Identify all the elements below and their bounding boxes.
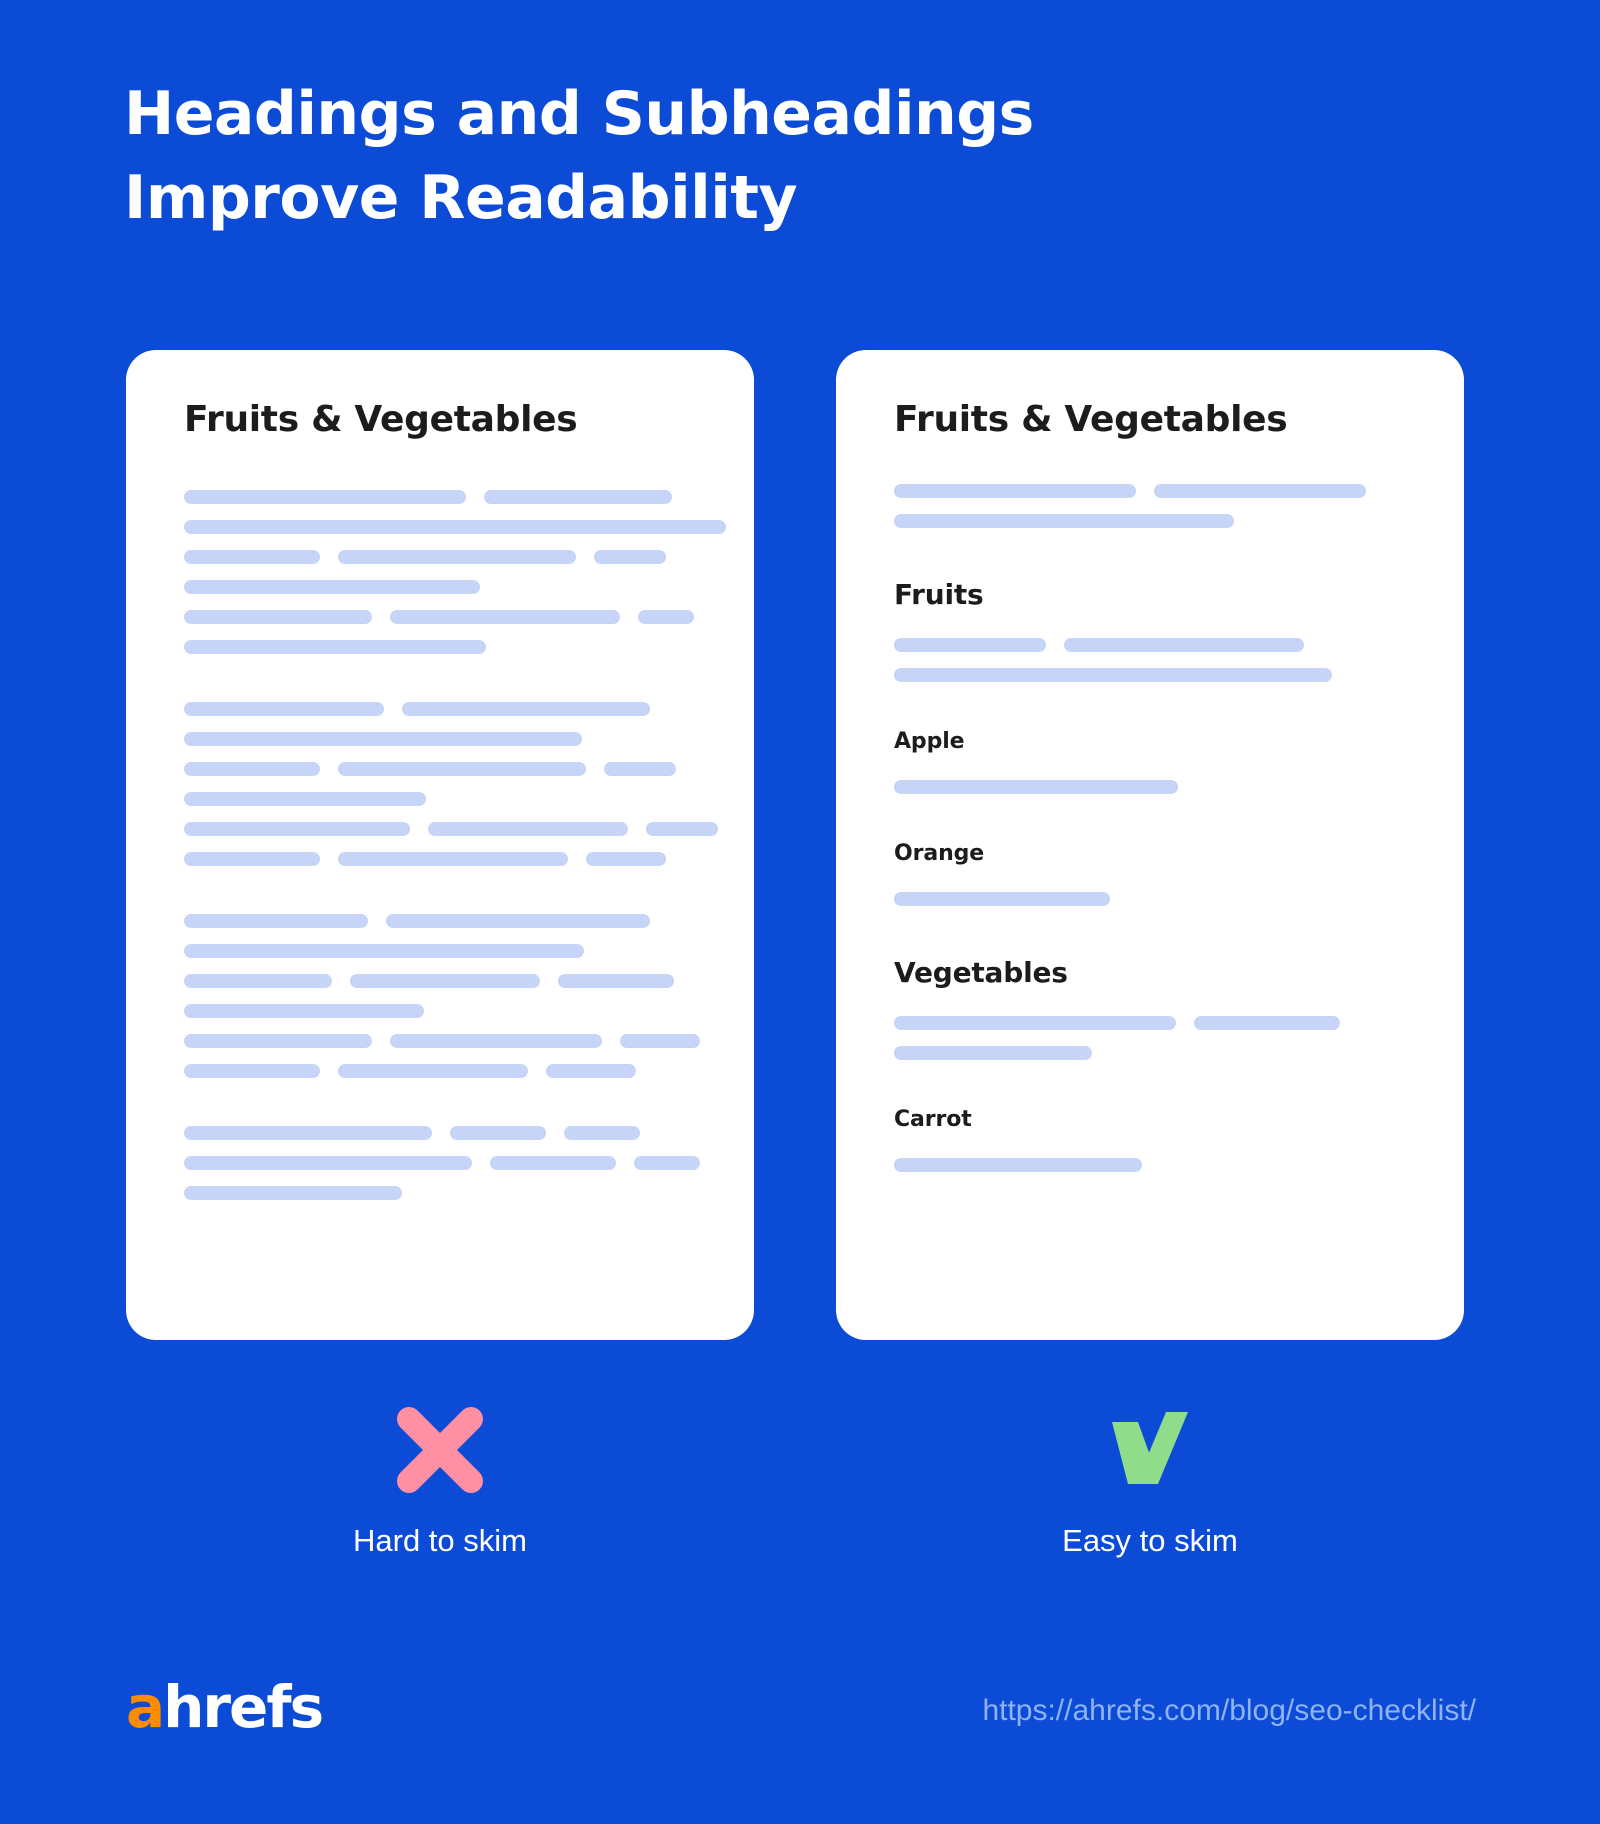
skeleton-bar (634, 1156, 700, 1170)
skeleton-bar (646, 822, 718, 836)
skeleton-bar (564, 1126, 640, 1140)
page-title: Headings and Subheadings Improve Readabi… (124, 72, 1224, 240)
skeleton-bar (338, 550, 576, 564)
skeleton-bar (338, 762, 586, 776)
skeleton-line (184, 1126, 708, 1140)
skeleton-bar (638, 610, 694, 624)
skeleton-line (184, 490, 708, 504)
skeleton-line (184, 792, 708, 806)
ahrefs-logo: ahrefs (126, 1672, 322, 1742)
spacer (894, 868, 1418, 892)
spacer (894, 1134, 1418, 1158)
skeleton-line (184, 822, 708, 836)
check-mark-icon (836, 1400, 1464, 1500)
skeleton-paragraph (184, 490, 708, 654)
card-easy-to-skim: Fruits & Vegetables FruitsAppleOrangeVeg… (836, 350, 1464, 1340)
skeleton-line (184, 914, 708, 928)
cross-mark-icon (126, 1400, 754, 1500)
logo-rest: hrefs (163, 1673, 322, 1741)
skeleton-line (184, 1156, 708, 1170)
skeleton-bar (558, 974, 674, 988)
skeleton-line (894, 780, 1418, 794)
skeleton-bar (894, 1046, 1092, 1060)
card-left-body (184, 490, 708, 1200)
skeleton-bar (894, 484, 1136, 498)
section-heading: Vegetables (894, 956, 1418, 990)
skeleton-bar (184, 822, 410, 836)
skeleton-bar (338, 1064, 528, 1078)
skeleton-line (894, 1046, 1418, 1060)
spacer (894, 528, 1418, 578)
skeleton-paragraph (894, 484, 1418, 528)
skeleton-line (184, 974, 708, 988)
skeleton-bar (184, 702, 384, 716)
skeleton-bar (484, 490, 672, 504)
skeleton-line (184, 640, 708, 654)
verdict-label-left: Hard to skim (126, 1522, 754, 1560)
skeleton-bar (604, 762, 676, 776)
verdict-label-right: Easy to skim (836, 1522, 1464, 1560)
spacer (894, 1060, 1418, 1106)
skeleton-bar (184, 640, 486, 654)
skeleton-line (184, 520, 708, 534)
spacer (894, 756, 1418, 780)
skeleton-line (184, 1034, 708, 1048)
spacer (184, 866, 708, 914)
skeleton-bar (184, 974, 332, 988)
skeleton-bar (184, 1004, 424, 1018)
skeleton-paragraph (184, 702, 708, 866)
skeleton-bar (184, 490, 466, 504)
skeleton-bar (184, 520, 726, 534)
subsection-heading: Carrot (894, 1106, 1418, 1134)
skeleton-paragraph (894, 892, 1418, 906)
spacer (894, 612, 1418, 638)
skeleton-line (894, 1158, 1418, 1172)
skeleton-bar (1154, 484, 1366, 498)
skeleton-bar (184, 792, 426, 806)
skeleton-bar (894, 638, 1046, 652)
skeleton-bar (594, 550, 666, 564)
card-left-title: Fruits & Vegetables (184, 398, 708, 442)
card-hard-to-skim: Fruits & Vegetables (126, 350, 754, 1340)
skeleton-line (184, 1004, 708, 1018)
skeleton-bar (894, 514, 1234, 528)
skeleton-line (184, 944, 708, 958)
skeleton-bar (586, 852, 666, 866)
spacer (894, 906, 1418, 956)
skeleton-bar (184, 914, 368, 928)
skeleton-line (184, 762, 708, 776)
verdict-hard-to-skim: Hard to skim (126, 1400, 754, 1560)
logo-accent-letter: a (126, 1673, 163, 1741)
skeleton-line (184, 1186, 708, 1200)
spacer (184, 654, 708, 702)
skeleton-bar (184, 1064, 320, 1078)
skeleton-bar (184, 852, 320, 866)
spacer (894, 990, 1418, 1016)
skeleton-line (894, 892, 1418, 906)
skeleton-bar (894, 1158, 1142, 1172)
subsection-heading: Apple (894, 728, 1418, 756)
spacer (894, 794, 1418, 840)
skeleton-line (894, 1016, 1418, 1030)
skeleton-bar (894, 892, 1110, 906)
verdict-easy-to-skim: Easy to skim (836, 1400, 1464, 1560)
skeleton-bar (546, 1064, 636, 1078)
skeleton-bar (894, 780, 1178, 794)
skeleton-line (894, 484, 1418, 498)
skeleton-bar (184, 550, 320, 564)
spacer (184, 1078, 708, 1126)
skeleton-bar (184, 610, 372, 624)
skeleton-bar (184, 732, 582, 746)
skeleton-bar (184, 1126, 432, 1140)
source-url[interactable]: https://ahrefs.com/blog/seo-checklist/ (982, 1692, 1476, 1730)
skeleton-line (184, 852, 708, 866)
subsection-heading: Orange (894, 840, 1418, 868)
skeleton-paragraph (894, 1158, 1418, 1172)
skeleton-bar (184, 580, 480, 594)
skeleton-line (184, 1064, 708, 1078)
skeleton-paragraph (894, 780, 1418, 794)
skeleton-paragraph (184, 914, 708, 1078)
skeleton-paragraph (894, 638, 1418, 682)
skeleton-bar (184, 1034, 372, 1048)
skeleton-bar (184, 762, 320, 776)
skeleton-bar (1194, 1016, 1340, 1030)
skeleton-bar (390, 1034, 602, 1048)
skeleton-line (184, 702, 708, 716)
skeleton-line (894, 638, 1418, 652)
skeleton-bar (894, 1016, 1176, 1030)
skeleton-line (894, 668, 1418, 682)
skeleton-bar (386, 914, 650, 928)
skeleton-bar (894, 668, 1332, 682)
skeleton-bar (402, 702, 650, 716)
skeleton-paragraph (894, 1016, 1418, 1060)
skeleton-bar (428, 822, 628, 836)
spacer (894, 682, 1418, 728)
skeleton-line (894, 514, 1418, 528)
skeleton-bar (620, 1034, 700, 1048)
skeleton-line (184, 550, 708, 564)
skeleton-bar (184, 944, 584, 958)
skeleton-bar (450, 1126, 546, 1140)
skeleton-line (184, 580, 708, 594)
skeleton-bar (1064, 638, 1304, 652)
card-right-body: FruitsAppleOrangeVegetablesCarrot (894, 484, 1418, 1172)
skeleton-bar (184, 1186, 402, 1200)
section-heading: Fruits (894, 578, 1418, 612)
skeleton-bar (390, 610, 620, 624)
skeleton-bar (350, 974, 540, 988)
card-right-title: Fruits & Vegetables (894, 398, 1418, 442)
skeleton-bar (490, 1156, 616, 1170)
skeleton-bar (184, 1156, 472, 1170)
skeleton-bar (338, 852, 568, 866)
skeleton-line (184, 610, 708, 624)
skeleton-paragraph (184, 1126, 708, 1200)
skeleton-line (184, 732, 708, 746)
